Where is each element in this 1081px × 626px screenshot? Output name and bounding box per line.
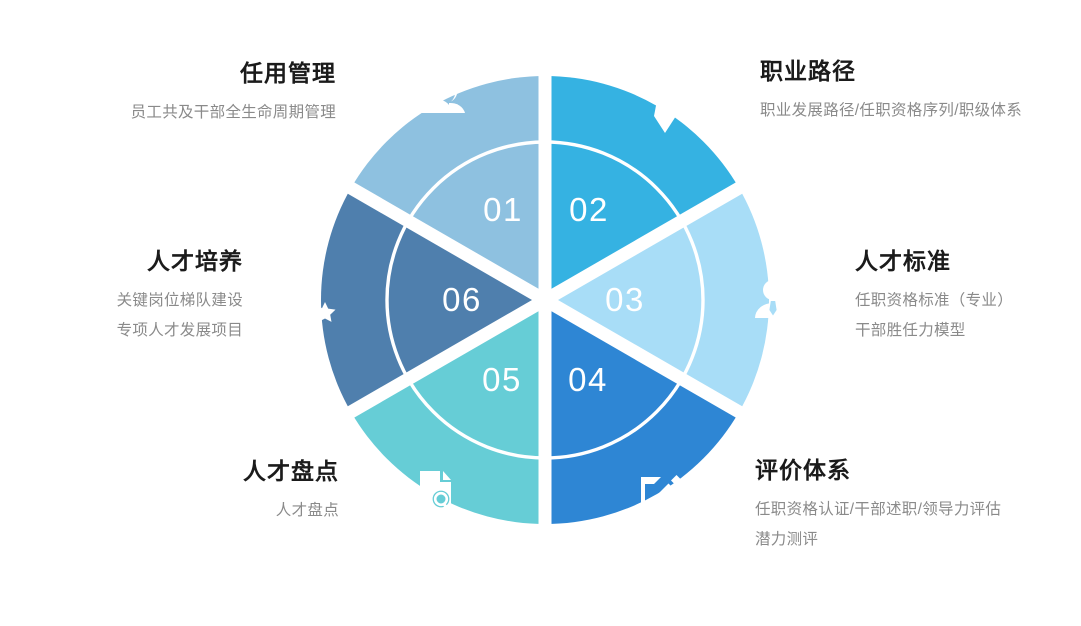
- label-title-05: 人才盘点: [243, 460, 339, 483]
- label-sub-02-line1: 职业发展路径/任职资格序列/职级体系: [760, 96, 1022, 126]
- label-block-04: 评价体系 任职资格认证/干部述职/领导力评估 潜力测评: [755, 459, 1001, 555]
- petal-number-03: 03: [605, 281, 645, 318]
- label-block-02: 职业路径 职业发展路径/任职资格序列/职级体系: [760, 60, 1022, 126]
- label-sub-03-line1: 任职资格标准（专业）: [855, 286, 1013, 316]
- label-title-06: 人才培养: [117, 250, 243, 273]
- label-sub-05-line1: 人才盘点: [243, 496, 339, 526]
- diagram-canvas: 01 02 03 04 05 06: [0, 0, 1081, 626]
- label-block-05: 人才盘点 人才盘点: [243, 460, 339, 526]
- label-sub-06-line1: 关键岗位梯队建设: [117, 286, 243, 316]
- label-block-01: 任用管理 员工共及干部全生命周期管理: [131, 62, 336, 128]
- label-sub-04-line1: 任职资格认证/干部述职/领导力评估: [755, 495, 1001, 525]
- petal-number-01: 01: [483, 191, 523, 228]
- label-block-03: 人才标准 任职资格标准（专业） 干部胜任力模型: [855, 250, 1013, 346]
- label-title-04: 评价体系: [755, 459, 1001, 482]
- label-title-01: 任用管理: [131, 62, 336, 85]
- label-block-06: 人才培养 关键岗位梯队建设 专项人才发展项目: [117, 250, 243, 346]
- label-sub-04-line2: 潜力测评: [755, 525, 1001, 555]
- petal-number-06: 06: [442, 281, 482, 318]
- document-search-icon: [420, 471, 451, 512]
- petal-number-02: 02: [569, 191, 609, 228]
- petal-number-04: 04: [568, 361, 608, 398]
- petal-number-05: 05: [482, 361, 522, 398]
- label-sub-03-line2: 干部胜任力模型: [855, 316, 1013, 346]
- label-sub-06-line2: 专项人才发展项目: [117, 316, 243, 346]
- label-title-03: 人才标准: [855, 250, 1013, 273]
- label-title-02: 职业路径: [760, 60, 1022, 83]
- label-sub-01-line1: 员工共及干部全生命周期管理: [131, 98, 336, 128]
